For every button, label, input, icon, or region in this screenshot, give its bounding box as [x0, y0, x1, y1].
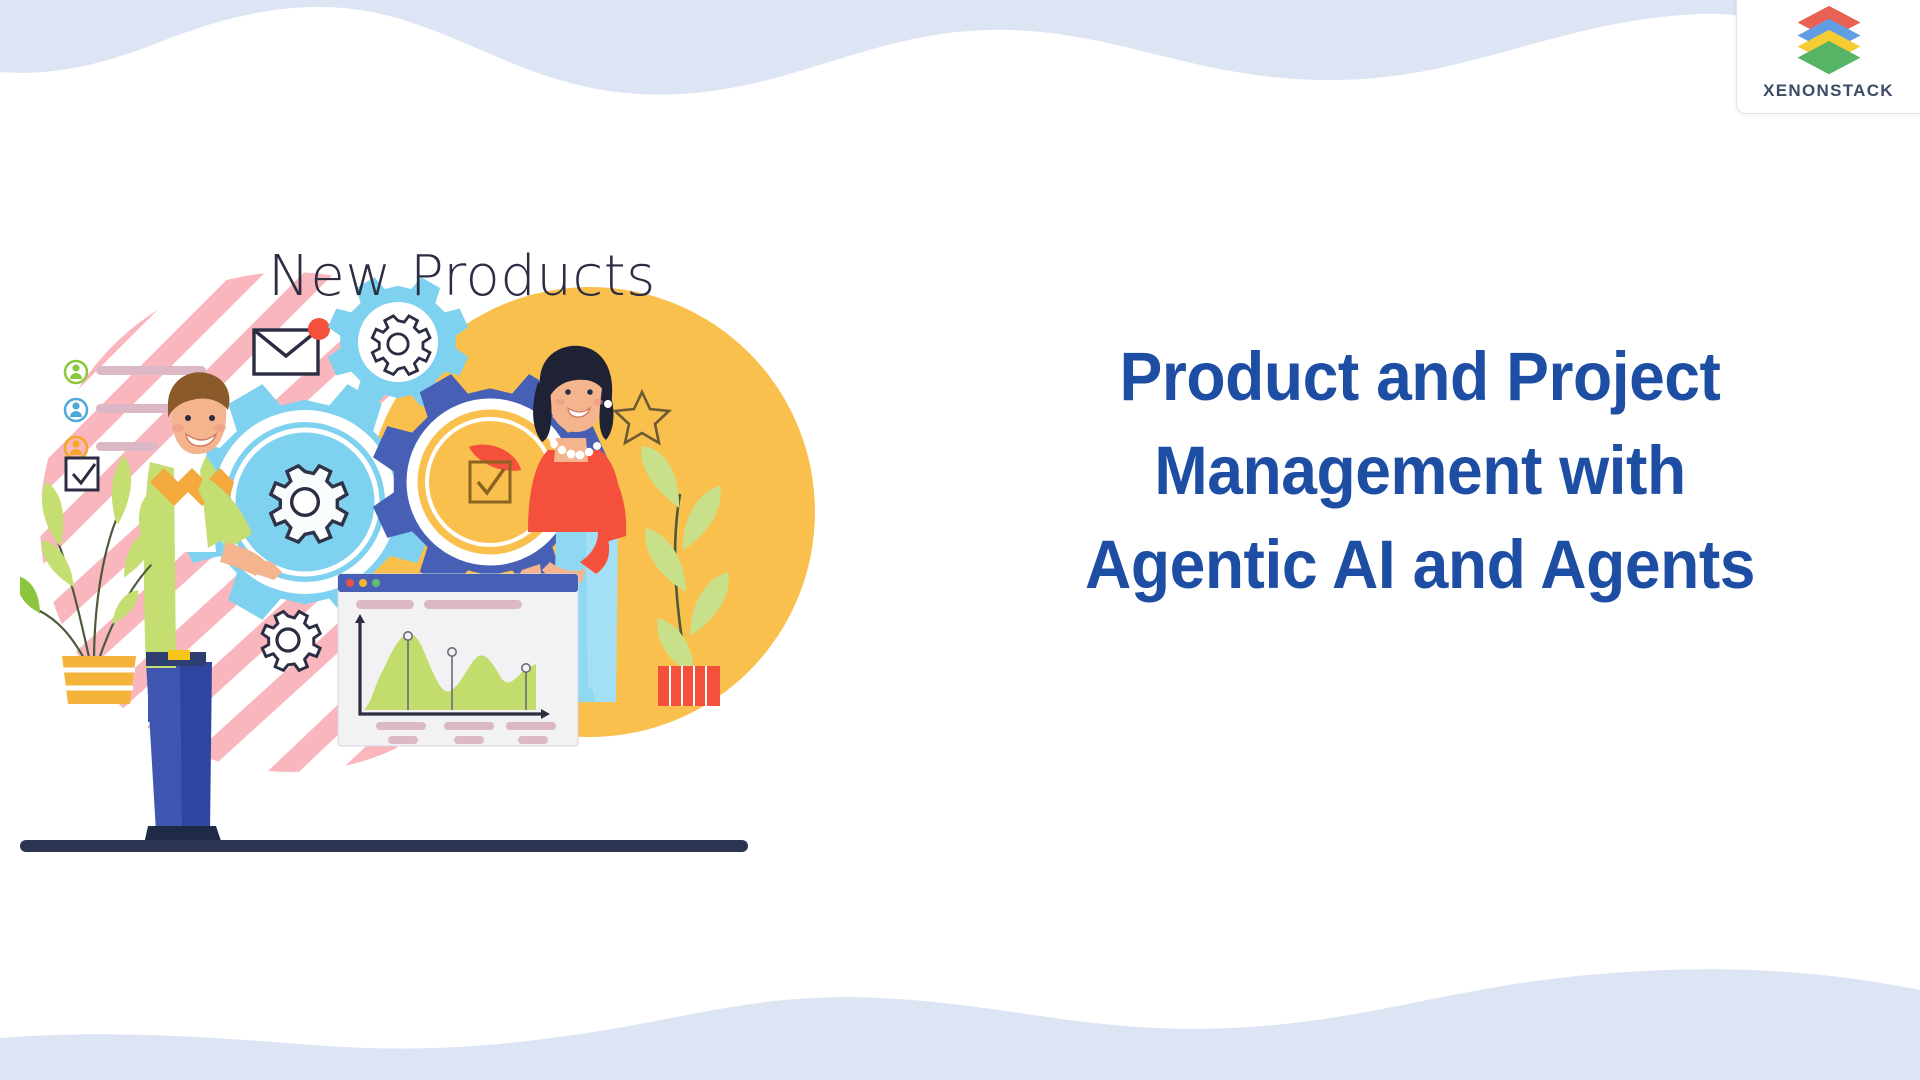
checkbox-checked-icon-left	[66, 458, 98, 490]
window-dot-maximize	[372, 579, 380, 587]
window-dot-close	[346, 579, 354, 587]
brand-wordmark: XENONSTACK	[1763, 81, 1894, 101]
xenonstack-stacked-diamond-logo	[1781, 4, 1877, 78]
window-dot-minimize	[359, 579, 367, 587]
headline-line-1: Product and Project	[992, 330, 1848, 424]
dashboard-window	[338, 574, 578, 746]
brand-logo-card[interactable]: XENONSTACK	[1736, 0, 1920, 114]
bottom-wave-decoration	[0, 960, 1920, 1080]
headline-line-2: Management with	[992, 424, 1848, 518]
hero-heading-block: Product and Project Management with Agen…	[960, 330, 1880, 611]
headline-line-3: Agentic AI and Agents	[992, 518, 1848, 612]
page-title: Product and Project Management with Agen…	[992, 330, 1848, 611]
top-wave-decoration	[0, 0, 1920, 130]
hero-illustration	[20, 232, 940, 872]
ground-bar	[20, 840, 748, 852]
illustration-title: New Products	[268, 244, 656, 309]
